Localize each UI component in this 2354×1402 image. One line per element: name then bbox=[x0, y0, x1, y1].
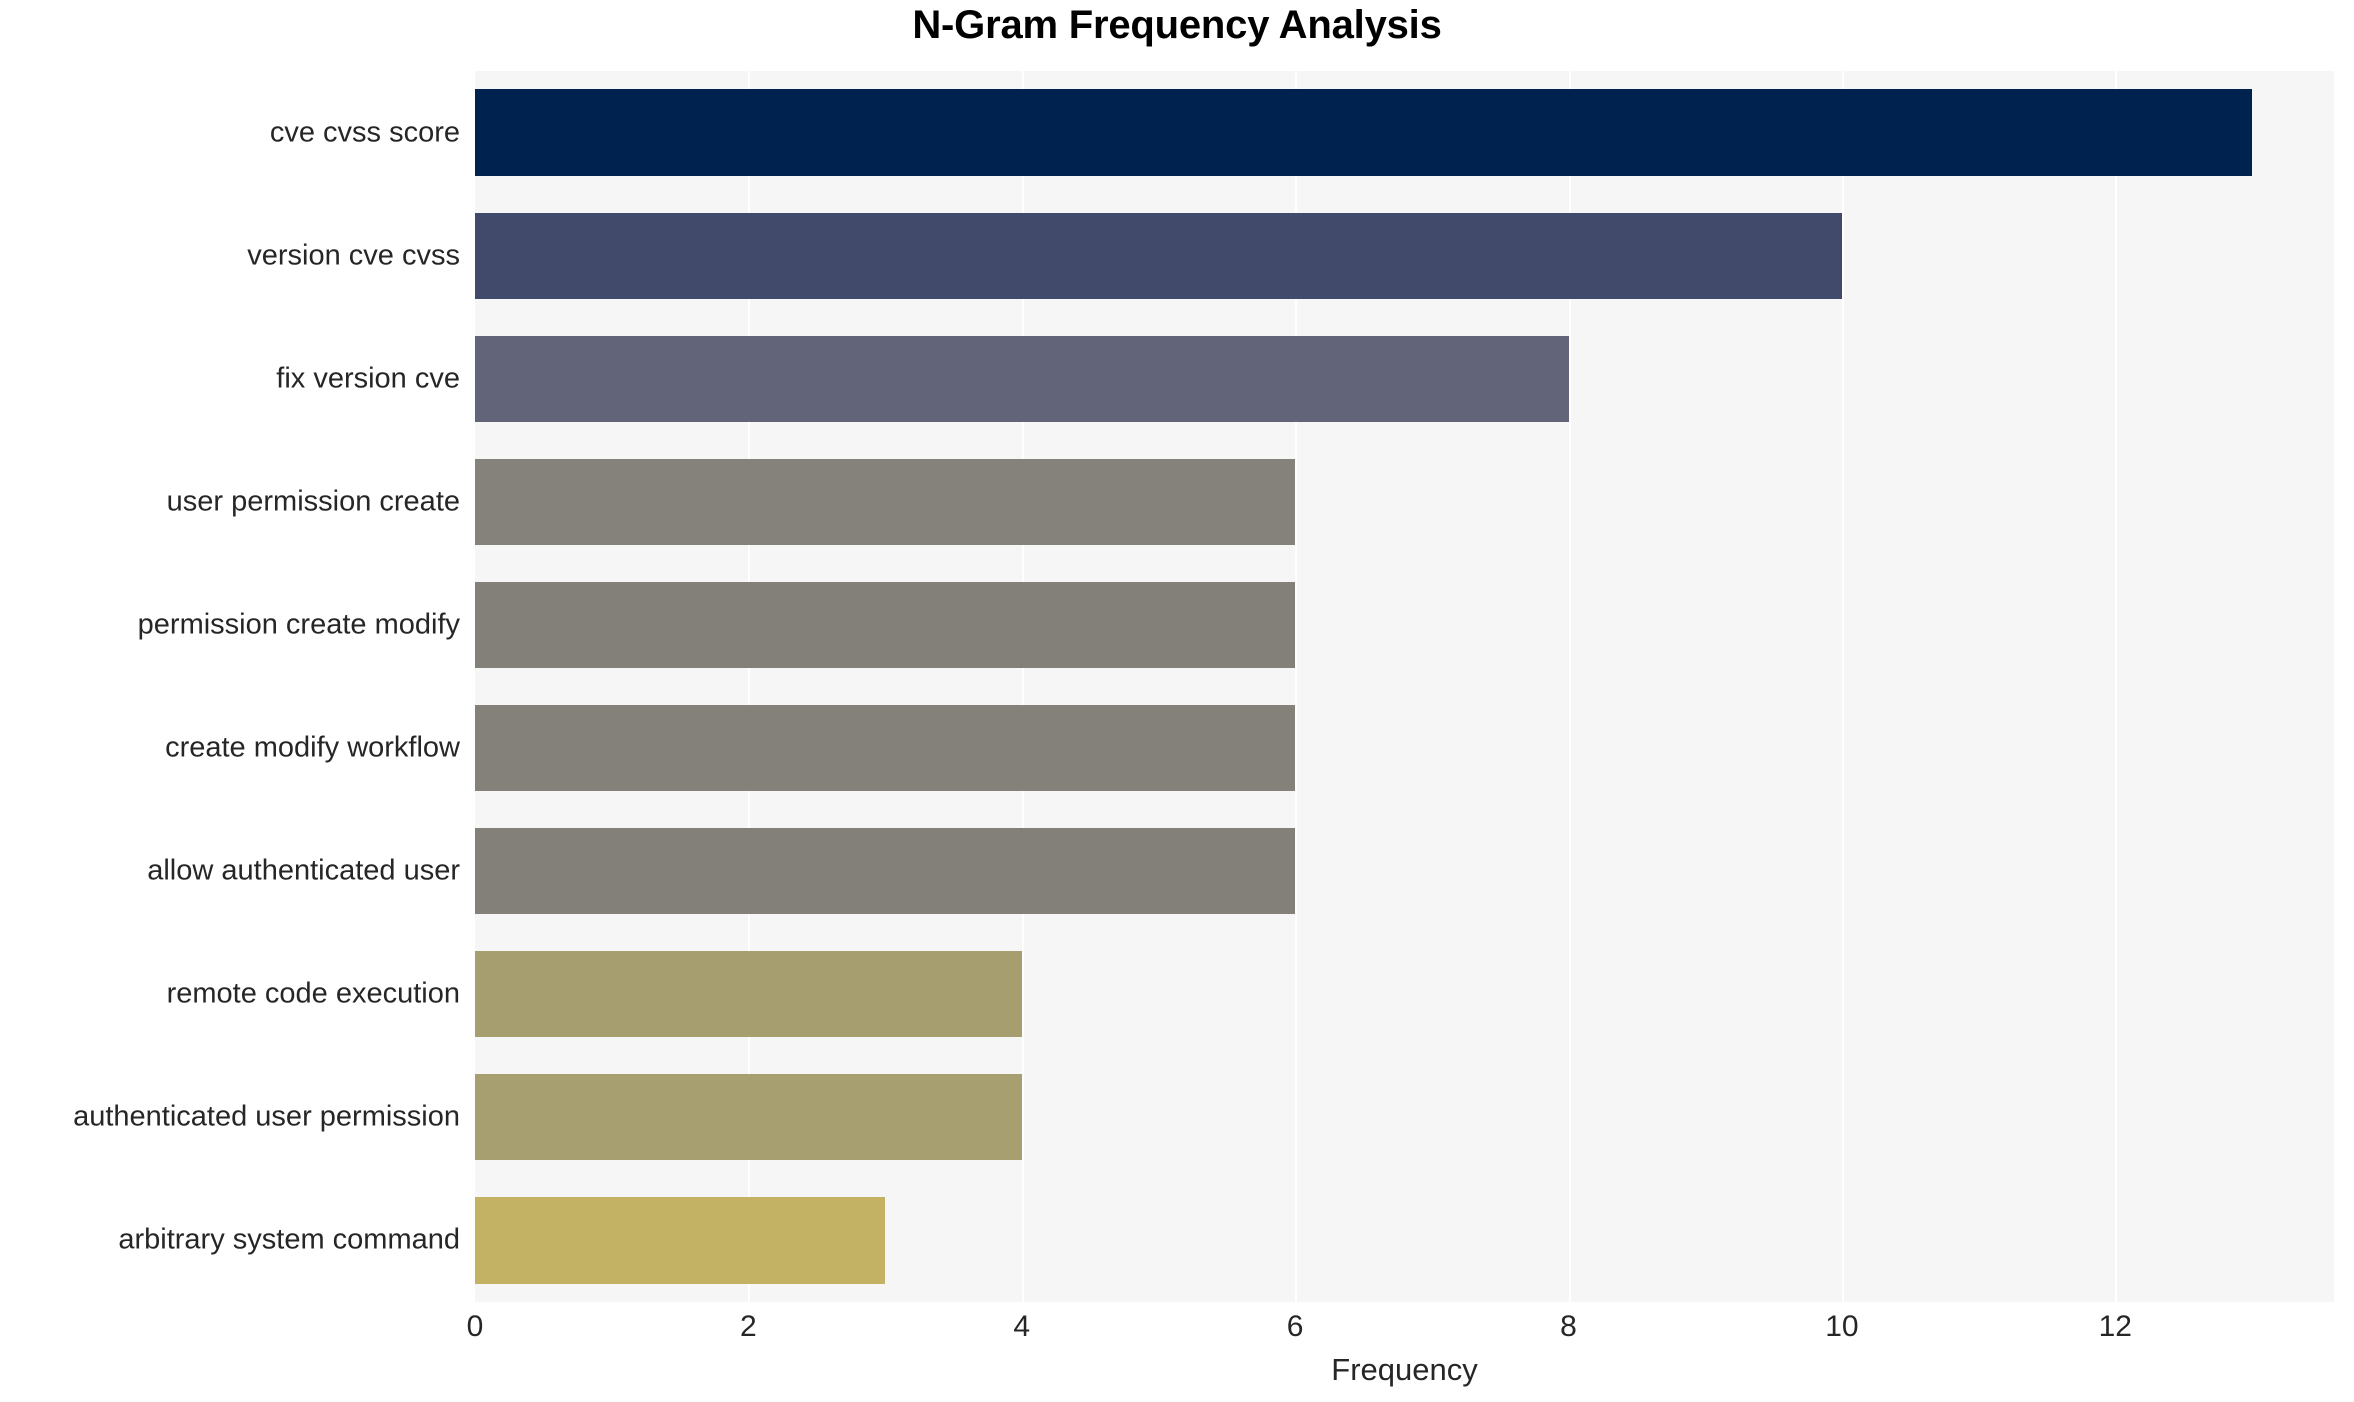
bar bbox=[475, 459, 1295, 545]
x-axis-tick-label: 8 bbox=[1509, 1310, 1629, 1344]
x-axis-tick-labels: 024681012 bbox=[475, 1310, 2334, 1356]
bar bbox=[475, 336, 1569, 422]
bar bbox=[475, 1197, 885, 1283]
plot-area bbox=[475, 71, 2334, 1302]
bar bbox=[475, 213, 1842, 299]
bar bbox=[475, 705, 1295, 791]
y-axis-tick-label: create modify workflow bbox=[0, 732, 460, 765]
y-axis-tick-label: remote code execution bbox=[0, 978, 460, 1011]
y-axis-tick-label: authenticated user permission bbox=[0, 1101, 460, 1134]
y-axis-tick-label: fix version cve bbox=[0, 362, 460, 395]
bar bbox=[475, 582, 1295, 668]
x-axis-tick-label: 0 bbox=[415, 1310, 535, 1344]
y-axis-tick-label: user permission create bbox=[0, 485, 460, 518]
chart-title: N-Gram Frequency Analysis bbox=[0, 2, 2354, 48]
bar bbox=[475, 828, 1295, 914]
y-axis-tick-label: arbitrary system command bbox=[0, 1224, 460, 1257]
y-axis-tick-label: cve cvss score bbox=[0, 116, 460, 149]
x-axis-tick-label: 2 bbox=[688, 1310, 808, 1344]
x-axis-tick-label: 6 bbox=[1235, 1310, 1355, 1344]
bar bbox=[475, 1074, 1022, 1160]
y-axis-tick-label: permission create modify bbox=[0, 608, 460, 641]
x-axis-title: Frequency bbox=[475, 1352, 2334, 1388]
gridline-vertical bbox=[1842, 71, 1844, 1302]
x-axis-tick-label: 10 bbox=[1782, 1310, 1902, 1344]
y-axis-tick-labels: cve cvss scoreversion cve cvssfix versio… bbox=[0, 71, 475, 1302]
bar bbox=[475, 89, 2252, 175]
chart-figure: N-Gram Frequency Analysis cve cvss score… bbox=[0, 0, 2354, 1402]
y-axis-tick-label: allow authenticated user bbox=[0, 855, 460, 888]
bar bbox=[475, 951, 1022, 1037]
gridline-vertical bbox=[2115, 71, 2117, 1302]
x-axis-tick-label: 12 bbox=[2055, 1310, 2175, 1344]
y-axis-tick-label: version cve cvss bbox=[0, 239, 460, 272]
x-axis-tick-label: 4 bbox=[962, 1310, 1082, 1344]
